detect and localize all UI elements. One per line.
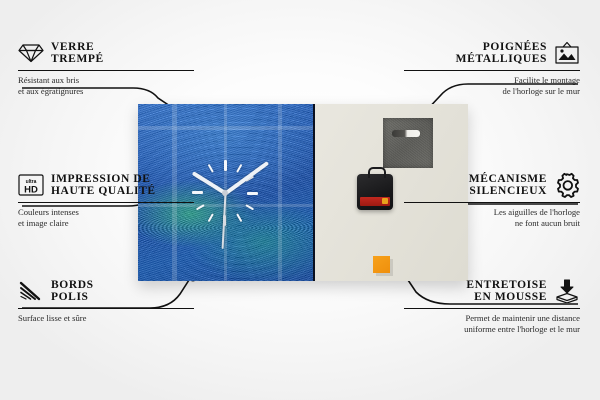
callout-entretoise-mousse: ENTRETOISE EN MOUSSE Permet de maintenir…: [404, 278, 580, 334]
minute-hand: [224, 161, 268, 194]
callout-rule: [404, 202, 580, 203]
metal-hanger-plate: [383, 118, 433, 168]
callout-title: BORDS POLIS: [51, 279, 94, 304]
callout-title: POIGNÉES MÉTALLIQUES: [456, 41, 547, 66]
callout-header: MÉCANISME SILENCIEUX: [404, 172, 580, 198]
callout-header: ENTRETOISE EN MOUSSE: [404, 278, 580, 304]
callout-description: Surface lisse et sûre: [18, 313, 194, 324]
callout-rule: [18, 308, 194, 309]
infographic-canvas: VERRE TREMPÉ Résistant aux bris et aux é…: [0, 0, 600, 400]
keyhole-slot: [392, 130, 420, 137]
callout-rule: [18, 70, 194, 71]
callout-rule: [18, 202, 194, 203]
callout-title: VERRE TREMPÉ: [51, 41, 104, 66]
callout-mecanisme-silencieux: MÉCANISME SILENCIEUX Les aiguilles de l'…: [404, 172, 580, 228]
callout-verre-trempe: VERRE TREMPÉ Résistant aux bris et aux é…: [18, 40, 194, 96]
silent-clock-movement: [357, 174, 393, 210]
gear-icon: [554, 172, 580, 198]
callout-description: Résistant aux bris et aux égratignures: [18, 75, 194, 96]
callout-rule: [404, 308, 580, 309]
foam-spacer: [373, 256, 390, 273]
hour-hand: [192, 171, 226, 195]
ultra-hd-icon: ultra HD: [18, 172, 44, 198]
callout-header: POIGNÉES MÉTALLIQUES: [404, 40, 580, 66]
callout-rule: [404, 70, 580, 71]
callout-description: Facilite le montage de l'horloge sur le …: [404, 75, 580, 96]
polished-edges-icon: [18, 278, 44, 304]
callout-bords-polis: BORDS POLIS Surface lisse et sûre: [18, 278, 194, 324]
second-hand: [222, 192, 226, 248]
callout-description: Couleurs intenses et image claire: [18, 207, 194, 228]
callout-header: VERRE TREMPÉ: [18, 40, 194, 66]
callout-title: MÉCANISME SILENCIEUX: [469, 173, 547, 198]
picture-frame-hanger-icon: [554, 40, 580, 66]
diamond-icon: [18, 40, 44, 66]
callout-description: Permet de maintenir une distance uniform…: [404, 313, 580, 334]
callout-title: ENTRETOISE EN MOUSSE: [466, 279, 547, 304]
callout-title: IMPRESSION DE HAUTE QUALITÉ: [51, 173, 156, 198]
svg-text:HD: HD: [24, 185, 38, 196]
callout-impression-hd: ultra HD IMPRESSION DE HAUTE QUALITÉ Cou…: [18, 172, 194, 228]
callout-header: ultra HD IMPRESSION DE HAUTE QUALITÉ: [18, 172, 194, 198]
callout-header: BORDS POLIS: [18, 278, 194, 304]
callout-poignees-metalliques: POIGNÉES MÉTALLIQUES Facilite le montage…: [404, 40, 580, 96]
arrow-down-layers-icon: [554, 278, 580, 304]
hanger-loop: [368, 167, 386, 178]
callout-description: Les aiguilles de l'horloge ne font aucun…: [404, 207, 580, 228]
battery: [360, 197, 390, 206]
